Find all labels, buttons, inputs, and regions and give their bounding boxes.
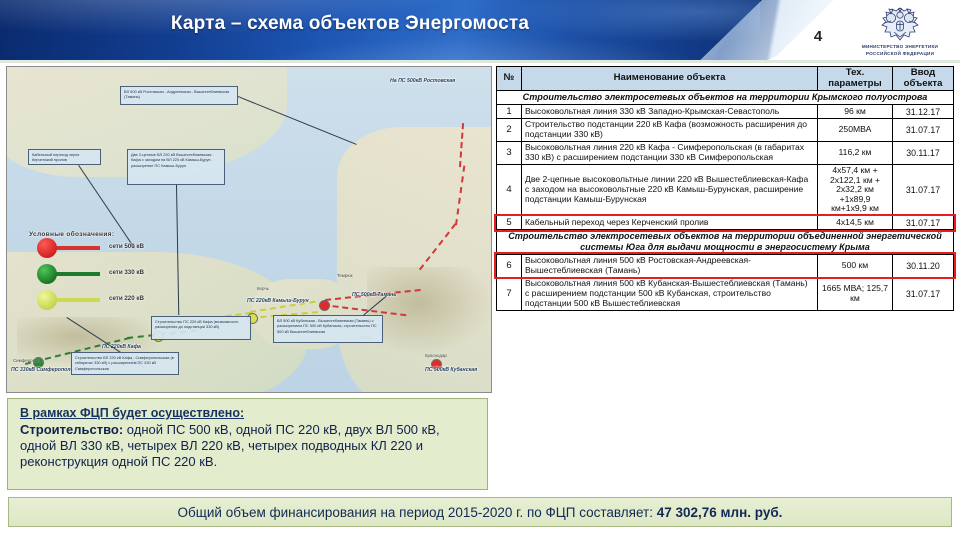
ministry-line-2: РОССИЙСКОЙ ФЕДЕРАЦИИ: [845, 51, 955, 58]
page-number: 4: [805, 28, 831, 45]
funding-summary-amount: 47 302,76 млн. руб.: [657, 505, 783, 520]
map-legend-row-220: сети 220 кВ: [21, 290, 191, 316]
col-header-object-name: Наименование объекта: [522, 67, 818, 91]
row-tech-params: 1665 МВА; 125,7 км: [818, 277, 893, 310]
table-row[interactable]: 4 Две 2-цепные высоковольтные линии 220 …: [497, 164, 954, 215]
row-commissioning-date: 30.11.20: [893, 254, 954, 277]
header-banner: Карта – схема объектов Энергомоста 4: [0, 0, 960, 63]
map-station-label-kamysh-burun: ПС 220кВ Камыш-Бурун: [247, 298, 309, 304]
section-header-south-ues: Строительство электросетевых объектов на…: [497, 230, 954, 255]
row-number: 7: [497, 277, 522, 310]
row-object-name: Кабельный переход через Керченский проли…: [522, 216, 818, 230]
row-tech-params: 116,2 км: [818, 141, 893, 164]
row-object-name: Высоковольтная линия 220 кВ Кафа - Симфе…: [522, 141, 818, 164]
fcp-note-body: Строительство: одной ПС 500 кВ, одной ПС…: [20, 422, 477, 470]
table-section-row-2: Строительство электросетевых объектов на…: [497, 230, 954, 255]
map-station-label-taman: ПС 500кВ Тамань: [352, 292, 396, 298]
row-number: 6: [497, 254, 522, 277]
objects-table-wrapper[interactable]: № Наименование объекта Тех. параметры Вв…: [496, 66, 954, 490]
row-object-name: Высоковольтная линия 330 кВ Западно-Крым…: [522, 105, 818, 119]
legend-bar-500: [54, 246, 100, 250]
legend-label-330: сети 330 кВ: [109, 269, 144, 276]
node-taman[interactable]: [319, 300, 330, 311]
legend-dot-220: [37, 290, 57, 310]
row-object-name: Высоковольтная линия 500 кВ Ростовская-А…: [522, 254, 818, 277]
map-city-label-krasnodar: Краснодар: [425, 353, 447, 358]
section-header-crimea: Строительство электросетевых объектов на…: [497, 91, 954, 105]
map-legend-row-500: сети 500 кВ: [21, 238, 191, 264]
col-header-tech-params-line1: Тех.: [821, 68, 889, 79]
table-row-highlighted[interactable]: 5 Кабельный переход через Керченский про…: [497, 216, 954, 230]
header-bottom-strip: [0, 60, 960, 63]
table-row[interactable]: 7 Высоковольтная линия 500 кВ Кубанская-…: [497, 277, 954, 310]
col-header-tech-params-line2: параметры: [821, 79, 889, 90]
row-tech-params: 4х14,5 км: [818, 216, 893, 230]
legend-label-500: сети 500 кВ: [109, 243, 144, 250]
map-callout-vl500-rostovskaya: ВЛ 500 кВ Ростовская - Андреевская - Выш…: [120, 86, 238, 105]
col-header-tech-params: Тех. параметры: [818, 67, 893, 91]
fcp-note-box: В рамках ФЦП будет осуществлено: Строите…: [7, 398, 488, 490]
row-commissioning-date: 31.12.17: [893, 105, 954, 119]
map-callout-vl500-kubanskaya: ВЛ 500 кВ Кубанская - Вышестеблиевская (…: [273, 315, 383, 343]
row-commissioning-date: 31.07.17: [893, 119, 954, 142]
funding-summary-text: Общий объем финансирования на период 201…: [178, 505, 783, 520]
table-row[interactable]: 1 Высоковольтная линия 330 кВ Западно-Кр…: [497, 105, 954, 119]
table-row[interactable]: 2 Строительство подстанции 220 кВ Кафа (…: [497, 119, 954, 142]
row-commissioning-date: 30.11.17: [893, 141, 954, 164]
map-callout-cable-crossing: Кабельный переход через Керченский проли…: [28, 149, 101, 165]
col-header-commissioning-line1: Ввод: [896, 68, 950, 79]
objects-table: № Наименование объекта Тех. параметры Вв…: [496, 66, 954, 311]
row-object-name: Две 2-цепные высоковольтные линии 220 кВ…: [522, 164, 818, 215]
legend-label-220: сети 220 кВ: [109, 295, 144, 302]
row-tech-params: 250МВА: [818, 119, 893, 142]
row-number: 2: [497, 119, 522, 142]
row-commissioning-date: 31.07.17: [893, 277, 954, 310]
row-commissioning-date: 31.07.17: [893, 164, 954, 215]
map-legend-title: Условные обозначения:: [29, 231, 191, 238]
row-number: 1: [497, 105, 522, 119]
objects-table-head: № Наименование объекта Тех. параметры Вв…: [497, 67, 954, 91]
legend-dot-330: [37, 264, 57, 284]
objects-table-body: Строительство электросетевых объектов на…: [497, 91, 954, 311]
funding-summary-prefix: Общий объем финансирования на период 201…: [178, 505, 657, 520]
fcp-note-heading: В рамках ФЦП будет осуществлено:: [20, 406, 477, 420]
legend-bar-220: [54, 298, 100, 302]
row-commissioning-date: 31.07.17: [893, 216, 954, 230]
russian-coat-of-arms-icon: [872, 4, 928, 44]
map-panel[interactable]: ПС 330кВ Симферопольская ПС 220кВ Кафа П…: [6, 66, 492, 393]
col-header-number: №: [497, 67, 522, 91]
map-callout-vl220-kafa-simferopolskaya: Строительство ВЛ 220 кВ Кафа - Симферопо…: [71, 352, 179, 375]
row-number: 5: [497, 216, 522, 230]
map-station-label-rostovskaya: На ПС 500кВ Ростовская: [390, 78, 455, 84]
legend-dot-500: [37, 238, 57, 258]
table-header-row: № Наименование объекта Тех. параметры Вв…: [497, 67, 954, 91]
map-legend: Условные обозначения: сети 500 кВ сети 3…: [21, 231, 191, 335]
col-header-commissioning-line2: объекта: [896, 79, 950, 90]
legend-bar-330: [54, 272, 100, 276]
fcp-note-label: Строительство:: [20, 422, 123, 437]
table-row-highlighted[interactable]: 6 Высоковольтная линия 500 кВ Ростовская…: [497, 254, 954, 277]
slide: Карта – схема объектов Энергомоста 4: [0, 0, 960, 533]
row-tech-params: 4х57,4 км + 2х122,1 км + 2х32,2 км +1х89…: [818, 164, 893, 215]
table-row[interactable]: 3 Высоковольтная линия 220 кВ Кафа - Сим…: [497, 141, 954, 164]
col-header-commissioning: Ввод объекта: [893, 67, 954, 91]
row-number: 4: [497, 164, 522, 215]
ministry-line-1: МИНИСТЕРСТВО ЭНЕРГЕТИКИ: [845, 44, 955, 51]
ministry-caption: МИНИСТЕРСТВО ЭНЕРГЕТИКИ РОССИЙСКОЙ ФЕДЕР…: [845, 44, 955, 57]
row-object-name: Строительство подстанции 220 кВ Кафа (во…: [522, 119, 818, 142]
map-city-label-kerch: Керчь: [257, 286, 269, 291]
table-section-row-1: Строительство электросетевых объектов на…: [497, 91, 954, 105]
page-title: Карта – схема объектов Энергомоста: [0, 13, 700, 35]
map-city-label-simferopol: Симферополь: [13, 358, 42, 363]
map-station-label-kubanskaya: ПС 500кВ Кубанская: [425, 367, 477, 373]
row-number: 3: [497, 141, 522, 164]
funding-summary-bar: Общий объем финансирования на период 201…: [8, 497, 952, 527]
row-tech-params: 500 км: [818, 254, 893, 277]
map-callout-two-double-circuit: Две 2-цепные ВЛ 220 кВ Вышестеблиевская …: [127, 149, 225, 185]
map-legend-row-330: сети 330 кВ: [21, 264, 191, 290]
row-object-name: Высоковольтная линия 500 кВ Кубанская-Вы…: [522, 277, 818, 310]
row-tech-params: 96 км: [818, 105, 893, 119]
map-city-label-temryuk: Темрюк: [337, 273, 353, 278]
